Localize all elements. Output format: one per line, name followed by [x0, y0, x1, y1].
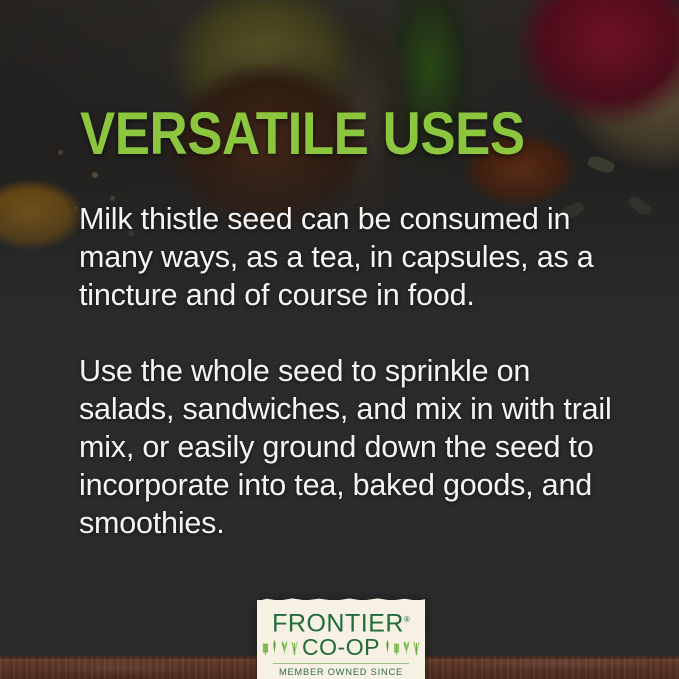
leaf-sprig-icon	[402, 640, 411, 655]
logo-coop-row: CO-OP	[262, 635, 420, 659]
logo-tagline: MEMBER OWNED SINCE 1976	[273, 667, 409, 679]
grass-sprig-icon	[413, 640, 420, 655]
wheat-sprig-icon	[393, 640, 400, 655]
frontier-coop-logo: FRONTIER®	[257, 600, 425, 679]
registered-trademark-icon: ®	[404, 615, 410, 624]
leaf-sprig-icon	[271, 640, 278, 655]
body-copy: Milk thistle seed can be consumed in man…	[79, 200, 619, 542]
grass-sprig-icon	[291, 640, 298, 655]
page-title: VERSATILE USES	[80, 104, 525, 164]
paragraph-2: Use the whole seed to sprinkle on salads…	[79, 352, 619, 542]
leaf-sprig-icon	[384, 640, 391, 655]
logo-brand-text: FRONTIER	[272, 609, 404, 637]
wheat-sprig-icon	[262, 640, 269, 655]
paragraph-1: Milk thistle seed can be consumed in man…	[79, 200, 619, 314]
logo-coop-text: CO-OP	[302, 635, 380, 659]
logo-brand-wordmark: FRONTIER®	[272, 607, 410, 636]
sprig-ornaments-left	[262, 640, 298, 655]
leaf-sprig-icon	[280, 640, 289, 655]
infographic-canvas: VERSATILE USES Milk thistle seed can be …	[0, 0, 679, 679]
sprig-ornaments-right	[384, 640, 420, 655]
logo-tagline-wrap: MEMBER OWNED SINCE 1976	[273, 663, 409, 679]
